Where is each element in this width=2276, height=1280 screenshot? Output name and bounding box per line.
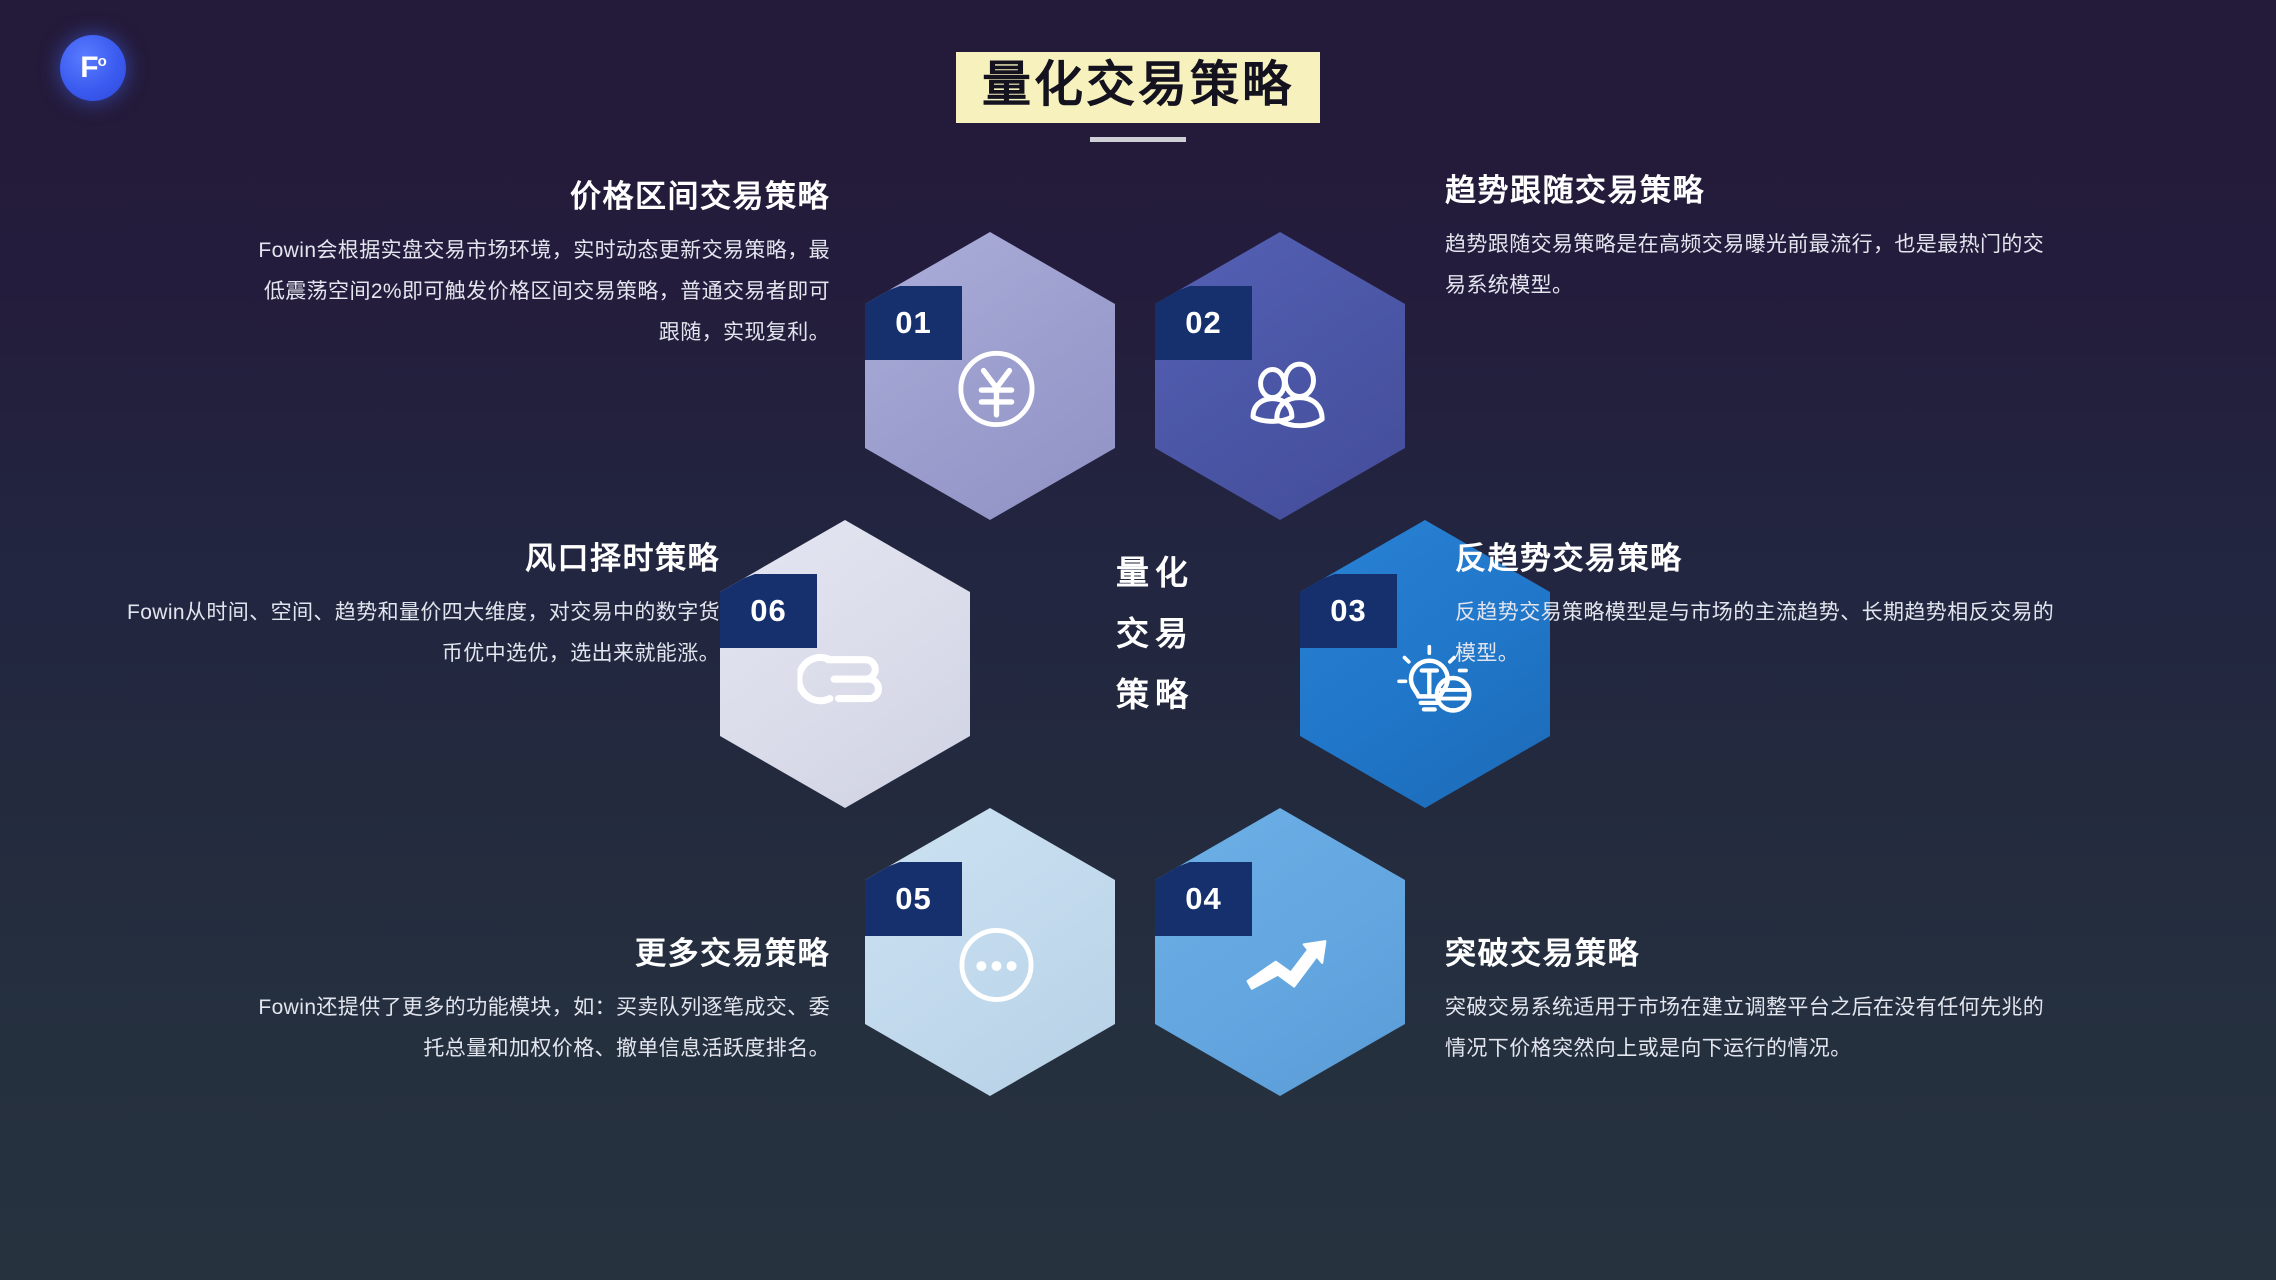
trending-up-icon [1232, 911, 1340, 1019]
section-body-05: Fowin还提供了更多的功能模块，如：买卖队列逐笔成交、委托总量和加权价格、撤单… [240, 988, 830, 1070]
section-block-01: 价格区间交易策略 Fowin会根据实盘交易市场环境，实时动态更新交易策略，最低震… [250, 178, 830, 354]
section-block-05: 更多交易策略 Fowin还提供了更多的功能模块，如：买卖队列逐笔成交、委托总量和… [240, 935, 830, 1070]
section-title-02: 趋势跟随交易策略 [1445, 172, 2045, 209]
center-line-1: 量化 [1075, 542, 1235, 603]
section-title-01: 价格区间交易策略 [250, 178, 830, 215]
wind-swirl-icon [797, 623, 905, 731]
section-body-02: 趋势跟随交易策略是在高频交易曝光前最流行，也是最热门的交易系统模型。 [1445, 225, 2045, 307]
section-title-04: 突破交易策略 [1445, 935, 2065, 972]
section-body-01: Fowin会根据实盘交易市场环境，实时动态更新交易策略，最低震荡空间2%即可触发… [250, 231, 830, 354]
section-block-03: 反趋势交易策略 反趋势交易策略模型是与市场的主流趋势、长期趋势相反交易的模型。 [1455, 540, 2075, 675]
center-line-2: 交易 [1075, 603, 1235, 664]
users-group-icon [1232, 335, 1340, 443]
section-body-03: 反趋势交易策略模型是与市场的主流趋势、长期趋势相反交易的模型。 [1455, 593, 2075, 675]
section-title-06: 风口择时策略 [110, 540, 720, 577]
section-block-06: 风口择时策略 Fowin从时间、空间、趋势和量价四大维度，对交易中的数字货币优中… [110, 540, 720, 675]
hexagon-tile-01[interactable]: 01 [865, 232, 1115, 520]
ellipsis-circle-icon [942, 911, 1050, 1019]
center-label: 量化 交易 策略 [1075, 542, 1235, 725]
section-body-04: 突破交易系统适用于市场在建立调整平台之后在没有任何先兆的情况下价格突然向上或是向… [1445, 988, 2065, 1070]
hexagon-tile-06[interactable]: 06 [720, 520, 970, 808]
hexagon-tile-02[interactable]: 02 [1155, 232, 1405, 520]
center-line-3: 策略 [1075, 664, 1235, 725]
yuan-currency-icon [942, 335, 1050, 443]
section-block-04: 突破交易策略 突破交易系统适用于市场在建立调整平台之后在没有任何先兆的情况下价格… [1445, 935, 2065, 1070]
hexagon-tile-04[interactable]: 04 [1155, 808, 1405, 1096]
section-title-05: 更多交易策略 [240, 935, 830, 972]
hexagon-tile-05[interactable]: 05 [865, 808, 1115, 1096]
section-block-02: 趋势跟随交易策略 趋势跟随交易策略是在高频交易曝光前最流行，也是最热门的交易系统… [1445, 172, 2045, 307]
section-title-03: 反趋势交易策略 [1455, 540, 2075, 577]
section-body-06: Fowin从时间、空间、趋势和量价四大维度，对交易中的数字货币优中选优，选出来就… [110, 593, 720, 675]
